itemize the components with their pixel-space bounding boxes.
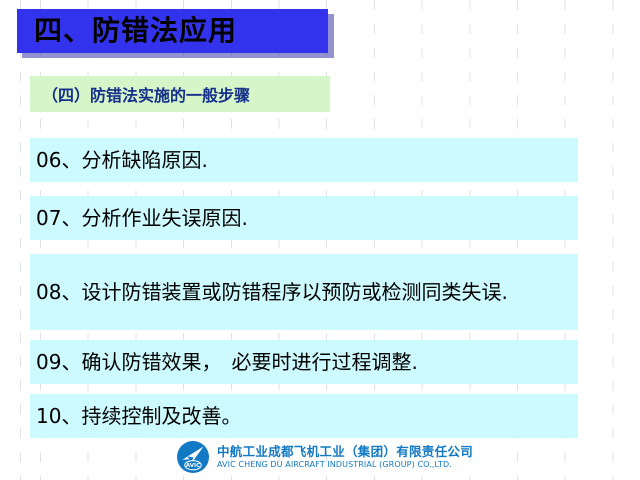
list-item: 06、分析缺陷原因.: [30, 138, 578, 182]
list-item: 08、设计防错装置或防错程序以预防或检测同类失误.: [30, 254, 578, 330]
list-item-label: 09、确认防错效果， 必要时进行过程调整.: [30, 347, 418, 378]
avic-logo-icon: AVIC: [176, 440, 210, 474]
list-item: 09、确认防错效果， 必要时进行过程调整.: [30, 340, 578, 384]
avic-logo-abbr: AVIC: [186, 463, 200, 469]
footer-logo-block: AVIC 中航工业成都飞机工业（集团）有限责任公司 AVIC CHENG DU …: [176, 440, 473, 474]
subtitle-label: （四）防错法实施的一般步骤: [30, 82, 250, 106]
list-item-label: 08、设计防错装置或防错程序以预防或检测同类失误.: [30, 277, 508, 308]
subtitle-banner: （四）防错法实施的一般步骤: [30, 76, 330, 112]
list-item: 10、持续控制及改善。: [30, 394, 578, 438]
footer-company-texts: 中航工业成都飞机工业（集团）有限责任公司 AVIC CHENG DU AIRCR…: [217, 444, 473, 470]
company-name-cn: 中航工业成都飞机工业（集团）有限责任公司: [217, 444, 473, 459]
list-item-label: 07、分析作业失误原因.: [30, 203, 248, 234]
list-item: 07、分析作业失误原因.: [30, 196, 578, 240]
title-banner: 四、防错法应用: [17, 9, 328, 53]
company-name-en: AVIC CHENG DU AIRCRAFT INDUSTRIAL (GROUP…: [217, 459, 473, 470]
list-item-label: 10、持续控制及改善。: [30, 401, 241, 432]
page-title: 四、防错法应用: [17, 17, 237, 45]
slide-canvas: 四、防错法应用 （四）防错法实施的一般步骤 06、分析缺陷原因. 07、分析作业…: [0, 0, 640, 480]
list-item-label: 06、分析缺陷原因.: [30, 145, 208, 176]
